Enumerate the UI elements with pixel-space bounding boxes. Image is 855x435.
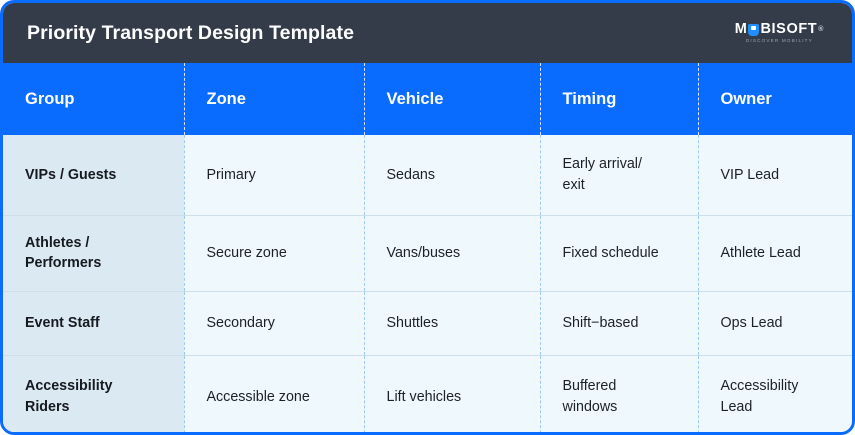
cell-owner: Athlete Lead: [698, 215, 852, 291]
table-row: VIPs / Guests Primary Sedans Early arriv…: [3, 135, 852, 215]
column-header-zone[interactable]: Zone: [184, 63, 364, 135]
cell-timing: Shift−based: [540, 291, 698, 355]
cell-timing-line1: Early arrival/: [563, 154, 684, 174]
cell-timing: Early arrival/ exit: [540, 135, 698, 215]
table-header: Group Zone Vehicle Timing Owner: [3, 63, 852, 135]
cell-group: VIPs / Guests: [3, 135, 184, 215]
cell-owner-line1: VIP Lead: [721, 165, 839, 185]
cell-timing: Buffered windows: [540, 355, 698, 435]
cell-owner-line1: Athlete Lead: [721, 243, 839, 263]
page-title: Priority Transport Design Template: [27, 22, 354, 45]
brand-logo: M BISOFT ® DISCOVER MOBILITY: [735, 22, 830, 44]
cell-timing-line1: Buffered: [563, 376, 684, 396]
registered-trademark-icon: ®: [818, 26, 824, 33]
cell-vehicle: Shuttles: [364, 291, 540, 355]
cell-group-line2: Performers: [25, 253, 170, 273]
table-row: Athletes / Performers Secure zone Vans/b…: [3, 215, 852, 291]
cell-timing-line1: Fixed schedule: [563, 243, 684, 263]
table-row: Accessibility Riders Accessible zone Lif…: [3, 355, 852, 435]
template-card: Priority Transport Design Template M BIS…: [0, 0, 855, 435]
cell-owner: Accessibility Lead: [698, 355, 852, 435]
cell-zone: Secure zone: [184, 215, 364, 291]
cell-vehicle: Sedans: [364, 135, 540, 215]
cell-owner-line1: Accessibility: [721, 376, 839, 396]
table-header-row: Group Zone Vehicle Timing Owner: [3, 63, 852, 135]
mobisoft-o-mark-icon: [748, 24, 759, 36]
logo-tagline: DISCOVER MOBILITY: [746, 39, 813, 44]
cell-group: Event Staff: [3, 291, 184, 355]
column-header-timing[interactable]: Timing: [540, 63, 698, 135]
cell-group: Accessibility Riders: [3, 355, 184, 435]
cell-owner-line2: Lead: [721, 397, 839, 417]
logo-text-m: M: [735, 22, 748, 37]
cell-timing-line2: exit: [563, 175, 684, 195]
column-header-vehicle[interactable]: Vehicle: [364, 63, 540, 135]
column-header-group[interactable]: Group: [3, 63, 184, 135]
cell-vehicle: Vans/buses: [364, 215, 540, 291]
cell-zone: Secondary: [184, 291, 364, 355]
cell-zone: Primary: [184, 135, 364, 215]
cell-group-line1: Accessibility: [25, 376, 170, 396]
cell-owner: VIP Lead: [698, 135, 852, 215]
cell-group: Athletes / Performers: [3, 215, 184, 291]
cell-group-line1: Athletes /: [25, 233, 170, 253]
cell-zone: Accessible zone: [184, 355, 364, 435]
column-header-owner[interactable]: Owner: [698, 63, 852, 135]
table-body: VIPs / Guests Primary Sedans Early arriv…: [3, 135, 852, 435]
cell-timing-line1: Shift−based: [563, 313, 684, 333]
cell-timing-line2: windows: [563, 397, 684, 417]
logo-wordmark: M BISOFT ®: [735, 22, 824, 37]
cell-group-line2: Riders: [25, 397, 170, 417]
card-header: Priority Transport Design Template M BIS…: [3, 3, 852, 63]
cell-owner-line1: Ops Lead: [721, 313, 839, 333]
cell-vehicle: Lift vehicles: [364, 355, 540, 435]
cell-timing: Fixed schedule: [540, 215, 698, 291]
priority-transport-table: Group Zone Vehicle Timing Owner VIPs / G…: [3, 63, 852, 435]
cell-owner: Ops Lead: [698, 291, 852, 355]
table-row: Event Staff Secondary Shuttles Shift−bas…: [3, 291, 852, 355]
logo-text-bisoft: BISOFT: [760, 22, 817, 37]
